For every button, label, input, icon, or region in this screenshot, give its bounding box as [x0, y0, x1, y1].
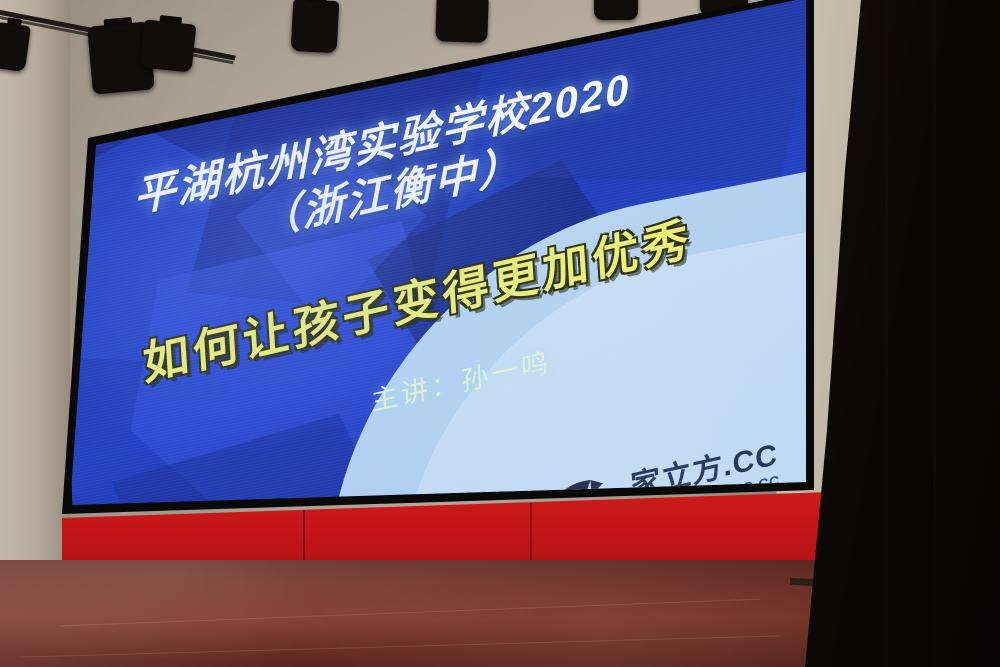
screen-display-area: 平湖杭州湾实验学校2020 （浙江衡中） 如何让孩子变得更加优秀 主讲：孙一鸣 — [44, 0, 814, 535]
curtain-fold — [933, 0, 936, 667]
curtain-fold — [885, 0, 888, 667]
stage-photo-scene: 平湖杭州湾实验学校2020 （浙江衡中） 如何让孩子变得更加优秀 主讲：孙一鸣 — [0, 0, 1000, 667]
led-screen: 平湖杭州湾实验学校2020 （浙江衡中） 如何让孩子变得更加优秀 主讲：孙一鸣 — [0, 0, 830, 550]
presentation-slide: 平湖杭州湾实验学校2020 （浙江衡中） 如何让孩子变得更加优秀 主讲：孙一鸣 — [62, 0, 814, 535]
